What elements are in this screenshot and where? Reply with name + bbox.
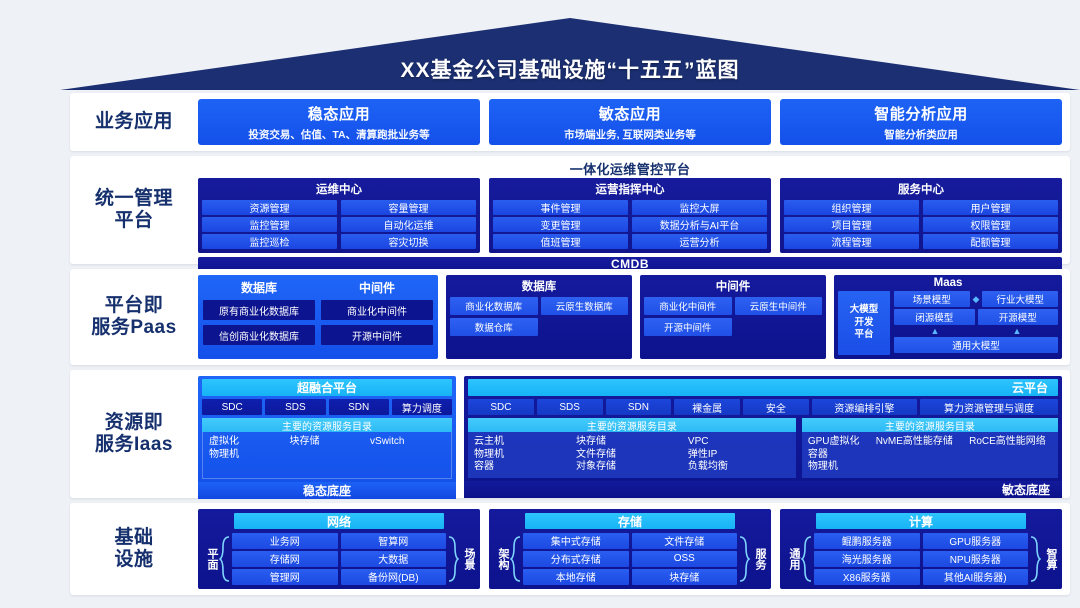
infra-item-grid: 集中式存储 文件存储 分布式存储 OSS 本地存储 块存储	[523, 533, 737, 585]
catalog-item: 弹性IP	[688, 449, 790, 462]
left-brace-icon	[801, 535, 812, 583]
infra-body: 通用 鲲鹏服务器 GPU服务器 海光服务器 NPU服务器 X86服务器 其他AI…	[786, 532, 1056, 585]
app-card-title: 稳态应用	[308, 103, 370, 124]
catalog-item: 负载均衡	[688, 461, 790, 474]
paas-column-title: 数据库	[203, 279, 315, 296]
center-item[interactable]: 用户管理	[923, 200, 1058, 215]
unified-platform-header: 一体化运维管控平台	[198, 162, 1062, 178]
infra-title: 存储	[525, 513, 736, 529]
maas-row-source: 闭源模型 开源模型	[894, 309, 1058, 325]
cloud-catalog-header: 主要的资源服务目录	[468, 418, 796, 432]
paas-item[interactable]: 开源中间件	[321, 325, 433, 345]
center-item[interactable]: 组织管理	[784, 200, 919, 215]
catalog-item	[370, 461, 445, 474]
arrow-right-icon: ◆	[973, 295, 980, 304]
catalog-item	[969, 449, 1052, 462]
cloud-base-label: 敏态底座	[464, 481, 1062, 498]
infra-left-label: 平面	[204, 548, 217, 570]
infra-item[interactable]: 块存储	[632, 569, 738, 585]
paas-item[interactable]: 商业化中间件	[644, 297, 732, 315]
center-operations-command: 运营指挥中心 事件管理 监控大屏 变更管理 数据分析与AI平台 值班管理 运营分…	[489, 178, 771, 253]
catalog-item: 物理机	[474, 449, 566, 462]
app-card-subtitle: 智能分析类应用	[884, 127, 958, 142]
catalog-item	[876, 461, 959, 474]
infra-title-wrap: 存储	[495, 513, 765, 529]
right-brace-icon	[1030, 535, 1041, 583]
paas-item[interactable]: 商业化中间件	[321, 300, 433, 320]
hci-catalog-header: 主要的资源服务目录	[202, 418, 452, 432]
hci-tab-list: SDC SDS SDN 算力调度	[202, 399, 452, 415]
paas-item[interactable]: 原有商业化数据库	[203, 300, 315, 320]
catalog-item: 容器	[808, 449, 866, 462]
cloud-platform-title: 云平台	[468, 379, 1058, 396]
hci-catalog-body: 虚拟化 物理机 块存储 vSwitch	[202, 432, 452, 479]
infra-item[interactable]: 备份网(DB)	[341, 569, 447, 585]
paas-panel-title: 数据库	[450, 278, 628, 294]
catalog-item: 对象存储	[576, 461, 678, 474]
paas-stable-database-column: 数据库 原有商业化数据库 信创商业化数据库	[203, 279, 315, 355]
paas-item[interactable]: 开源中间件	[644, 318, 732, 336]
catalog-item	[290, 449, 361, 462]
infra-right-label: 服务	[752, 548, 765, 570]
infra-title: 网络	[234, 513, 445, 529]
iaas-block: 超融合平台 SDC SDS SDN 算力调度 主要的资源服务目录 虚拟化 物理机	[198, 376, 1062, 492]
hci-base-label: 稳态底座	[198, 482, 456, 499]
center-item-grid: 事件管理 监控大屏 变更管理 数据分析与AI平台 值班管理 运营分析	[493, 200, 767, 249]
infra-item[interactable]: 文件存储	[632, 533, 738, 549]
paas-stable-middleware-column: 中间件 商业化中间件 开源中间件	[321, 279, 433, 355]
center-item[interactable]: 事件管理	[493, 200, 628, 215]
row-body-iaas: 超融合平台 SDC SDS SDN 算力调度 主要的资源服务目录 虚拟化 物理机	[198, 370, 1070, 498]
paas-item[interactable]: 云原生中间件	[735, 297, 823, 315]
row-body-infrastructure: 网络 平面 业务网 智算网 存储网 大数据 管理网 备份	[198, 503, 1070, 595]
catalog-item: 块存储	[290, 436, 361, 449]
row-iaas: 资源即 服务Iaas 超融合平台 SDC SDS SDN 算力调度 主要的资源服…	[70, 370, 1070, 498]
paas-stable-card: 数据库 原有商业化数据库 信创商业化数据库 中间件 商业化中间件 开源中间件	[198, 275, 438, 359]
infra-item[interactable]: 业务网	[232, 533, 338, 549]
center-item[interactable]: 容灾切换	[341, 234, 476, 249]
catalog-item	[209, 461, 280, 474]
center-item[interactable]: 权限管理	[923, 217, 1058, 232]
paas-panel-grid: 商业化中间件 云原生中间件 开源中间件	[644, 297, 822, 336]
center-item[interactable]: 流程管理	[784, 234, 919, 249]
infrastructure-card-list: 网络 平面 业务网 智算网 存储网 大数据 管理网 备份	[198, 509, 1062, 589]
infra-item[interactable]: 其他AI服务器)	[923, 569, 1029, 585]
center-ops: 运维中心 资源管理 容量管理 监控管理 自动化运维 监控巡检 容灾切换	[198, 178, 480, 253]
paas-agile-middleware-panel: 中间件 商业化中间件 云原生中间件 开源中间件	[640, 275, 826, 359]
unified-platform-center-list: 运维中心 资源管理 容量管理 监控管理 自动化运维 监控巡检 容灾切换 运营指挥…	[198, 178, 1062, 253]
infra-right-label: 智算	[1043, 548, 1056, 570]
center-service: 服务中心 组织管理 用户管理 项目管理 权限管理 流程管理 配额管理	[780, 178, 1062, 253]
infra-title: 计算	[816, 513, 1027, 529]
infra-item[interactable]: 管理网	[232, 569, 338, 585]
row-label-iaas: 资源即 服务Iaas	[70, 370, 198, 498]
catalog-item: vSwitch	[370, 436, 445, 449]
center-item[interactable]: 变更管理	[493, 217, 628, 232]
catalog-item: 云主机	[474, 436, 566, 449]
left-brace-icon	[219, 535, 230, 583]
infra-item[interactable]: X86服务器	[814, 569, 920, 585]
catalog-item	[969, 461, 1052, 474]
infra-item[interactable]: 海光服务器	[814, 551, 920, 567]
hci-tab-sdn[interactable]: SDN	[329, 399, 389, 415]
row-body-unified-platform: 一体化运维管控平台 运维中心 资源管理 容量管理 监控管理 自动化运维 监控巡检…	[198, 156, 1070, 264]
business-app-card-list: 稳态应用 投资交易、估值、TA、清算跑批业务等 敏态应用 市场端业务, 互联网类…	[198, 99, 1062, 145]
cloud-tab-security[interactable]: 安全	[743, 399, 809, 415]
cloud-catalog-header: 主要的资源服务目录	[802, 418, 1058, 432]
right-brace-icon	[739, 535, 750, 583]
cloud-tab-orchestration-engine[interactable]: 资源编排引擎	[812, 399, 917, 415]
catalog-item	[370, 449, 445, 462]
hci-title: 超融合平台	[202, 379, 452, 396]
hci-tab-compute-scheduling[interactable]: 算力调度	[392, 399, 452, 415]
infra-item[interactable]: OSS	[632, 551, 738, 567]
infra-item[interactable]: NPU服务器	[923, 551, 1029, 567]
infra-item[interactable]: 大数据	[341, 551, 447, 567]
arrow-up-icon: ▲	[976, 327, 1058, 335]
app-card-title: 敏态应用	[599, 103, 661, 124]
maas-title: Maas	[838, 277, 1058, 289]
roof-banner: XX基金公司基础设施“十五五”蓝图	[60, 18, 1080, 90]
catalog-item: 容器	[474, 461, 566, 474]
catalog-item: 虚拟化	[209, 436, 280, 449]
paas-panel-grid: 商业化数据库 云原生数据库 数据仓库	[450, 297, 628, 336]
cloud-catalog-right-body: GPU虚拟化 容器 物理机 NvME高性能存储 RoCE高性能网络	[802, 432, 1058, 478]
infra-item[interactable]: GPU服务器	[923, 533, 1029, 549]
arrow-up-icon: ▲	[894, 327, 976, 335]
center-item[interactable]: 监控管理	[202, 217, 337, 232]
row-unified-platform: 统一管理 平台 一体化运维管控平台 运维中心 资源管理 容量管理 监控管理 自动…	[70, 156, 1070, 264]
catalog-item: NvME高性能存储	[876, 436, 959, 449]
paas-agile-card: 数据库 商业化数据库 云原生数据库 数据仓库 中间件 商业化中间件 云原生中间件…	[446, 275, 826, 359]
cloud-platform-card: 云平台 SDC SDS SDN 裸金属 安全 资源编排引擎 算力资源管理与调度 …	[464, 376, 1062, 492]
center-item[interactable]: 容量管理	[341, 200, 476, 215]
cloud-tab-bare-metal[interactable]: 裸金属	[674, 399, 740, 415]
row-paas: 平台即 服务Paas 数据库 原有商业化数据库 信创商业化数据库 中间件 商业化…	[70, 269, 1070, 365]
paas-item[interactable]: 信创商业化数据库	[203, 325, 315, 345]
maas-dev-platform-label[interactable]: 大模型 开发 平台	[838, 291, 890, 355]
catalog-item: VPC	[688, 436, 790, 449]
cloud-tab-compute-resource-mgmt[interactable]: 算力资源管理与调度	[920, 399, 1058, 415]
hci-card: 超融合平台 SDC SDS SDN 算力调度 主要的资源服务目录 虚拟化 物理机	[198, 376, 456, 492]
infra-item[interactable]: 集中式存储	[523, 533, 629, 549]
catalog-item	[876, 449, 959, 462]
row-infrastructure: 基础 设施 网络 平面 业务网 智算网 存储网	[70, 503, 1070, 595]
cloud-tab-sdn[interactable]: SDN	[606, 399, 672, 415]
maas-body: 大模型 开发 平台 场景模型 ◆ 行业大模型 闭源模型 开源模型	[838, 291, 1058, 355]
cloud-catalog-left-body: 云主机 物理机 容器 块存储 文件存储 对象存储 VPC 弹性IP 负载均衡	[468, 432, 796, 478]
center-item[interactable]: 监控巡检	[202, 234, 337, 249]
cloud-tab-sdc[interactable]: SDC	[468, 399, 534, 415]
center-item[interactable]: 自动化运维	[341, 217, 476, 232]
catalog-item: 物理机	[209, 449, 280, 462]
hci-catalog: 主要的资源服务目录 虚拟化 物理机 块存储 vSwitch	[202, 418, 452, 479]
hci-tab-sdc[interactable]: SDC	[202, 399, 262, 415]
maas-item-general-large-model[interactable]: 通用大模型	[894, 337, 1058, 353]
infra-title-wrap: 计算	[786, 513, 1056, 529]
hci-tab-sds[interactable]: SDS	[265, 399, 325, 415]
infra-card-network: 网络 平面 业务网 智算网 存储网 大数据 管理网 备份	[198, 509, 480, 589]
infra-body: 平面 业务网 智算网 存储网 大数据 管理网 备份网(DB)	[204, 532, 474, 585]
catalog-item: 物理机	[808, 461, 866, 474]
infra-item-grid: 业务网 智算网 存储网 大数据 管理网 备份网(DB)	[232, 533, 446, 585]
center-item[interactable]: 监控大屏	[632, 200, 767, 215]
row-body-paas: 数据库 原有商业化数据库 信创商业化数据库 中间件 商业化中间件 开源中间件 数…	[198, 269, 1070, 365]
infra-title-wrap: 网络	[204, 513, 474, 529]
infra-left-label: 通用	[786, 548, 799, 570]
infra-card-storage: 存储 架构 集中式存储 文件存储 分布式存储 OSS 本地存储	[489, 509, 771, 589]
blueprint-page: XX基金公司基础设施“十五五”蓝图 业务应用 稳态应用 投资交易、估值、TA、清…	[0, 0, 1080, 608]
row-label-infrastructure: 基础 设施	[70, 503, 198, 595]
row-label-business-apps: 业务应用	[70, 93, 198, 151]
infra-item[interactable]: 智算网	[341, 533, 447, 549]
paas-panel-title: 中间件	[644, 278, 822, 294]
cloud-catalog-right: 主要的资源服务目录 GPU虚拟化 容器 物理机 NvME高性能存储 RoCE高性…	[802, 418, 1058, 478]
catalog-item: 文件存储	[576, 449, 678, 462]
center-title: 服务中心	[784, 181, 1058, 197]
center-item[interactable]: 项目管理	[784, 217, 919, 232]
paas-item[interactable]: 云原生数据库	[541, 297, 629, 315]
catalog-item: 块存储	[576, 436, 678, 449]
center-item[interactable]: 运营分析	[632, 234, 767, 249]
paas-agile-database-panel: 数据库 商业化数据库 云原生数据库 数据仓库	[446, 275, 632, 359]
maas-model-area: 场景模型 ◆ 行业大模型 闭源模型 开源模型 ▲ ▲	[894, 291, 1058, 355]
maas-card: Maas 大模型 开发 平台 场景模型 ◆ 行业大模型 闭源模型 开源模型	[834, 275, 1062, 359]
right-brace-icon	[448, 535, 459, 583]
hci-catalog-wrap: 主要的资源服务目录 虚拟化 物理机 块存储 vSwitch	[202, 418, 452, 479]
paas-block: 数据库 原有商业化数据库 信创商业化数据库 中间件 商业化中间件 开源中间件 数…	[198, 275, 1062, 359]
center-item-grid: 组织管理 用户管理 项目管理 权限管理 流程管理 配额管理	[784, 200, 1058, 249]
row-label-unified-platform: 统一管理 平台	[70, 156, 198, 264]
cloud-catalog-wrap: 主要的资源服务目录 云主机 物理机 容器 块存储 文件存储 对象存储 VPC 弹…	[468, 418, 1058, 478]
paas-column-title: 中间件	[321, 279, 433, 296]
infra-card-compute: 计算 通用 鲲鹏服务器 GPU服务器 海光服务器 NPU服务器 X86服务器	[780, 509, 1062, 589]
catalog-item	[290, 461, 361, 474]
app-card-subtitle: 市场端业务, 互联网类业务等	[564, 127, 696, 142]
maas-arrow-row: ▲ ▲	[894, 327, 1058, 335]
app-card-title: 智能分析应用	[874, 103, 968, 124]
page-title: XX基金公司基础设施“十五五”蓝图	[60, 54, 1080, 84]
infra-item-grid: 鲲鹏服务器 GPU服务器 海光服务器 NPU服务器 X86服务器 其他AI服务器…	[814, 533, 1028, 585]
infra-right-label: 场景	[461, 548, 474, 570]
app-card-subtitle: 投资交易、估值、TA、清算跑批业务等	[248, 127, 429, 142]
maas-item-open-source-model[interactable]: 开源模型	[978, 309, 1059, 325]
paas-item[interactable]: 商业化数据库	[450, 297, 538, 315]
infra-item[interactable]: 本地存储	[523, 569, 629, 585]
row-label-paas: 平台即 服务Paas	[70, 269, 198, 365]
center-item[interactable]: 资源管理	[202, 200, 337, 215]
unified-platform-block: 一体化运维管控平台 运维中心 资源管理 容量管理 监控管理 自动化运维 监控巡检…	[198, 162, 1062, 258]
center-item[interactable]: 数据分析与AI平台	[632, 217, 767, 232]
catalog-item: GPU虚拟化	[808, 436, 866, 449]
center-title: 运营指挥中心	[493, 181, 767, 197]
maas-item-scene-model[interactable]: 场景模型	[894, 291, 970, 307]
row-body-business-apps: 稳态应用 投资交易、估值、TA、清算跑批业务等 敏态应用 市场端业务, 互联网类…	[198, 93, 1070, 151]
infra-body: 架构 集中式存储 文件存储 分布式存储 OSS 本地存储 块存储	[495, 532, 765, 585]
catalog-item: RoCE高性能网络	[969, 436, 1052, 449]
app-card-intelligent-analysis[interactable]: 智能分析应用 智能分析类应用	[780, 99, 1062, 145]
infra-item[interactable]: 分布式存储	[523, 551, 629, 567]
left-brace-icon	[510, 535, 521, 583]
maas-item-industry-model[interactable]: 行业大模型	[982, 291, 1058, 307]
cloud-catalog-left: 主要的资源服务目录 云主机 物理机 容器 块存储 文件存储 对象存储 VPC 弹…	[468, 418, 796, 478]
infra-item[interactable]: 存储网	[232, 551, 338, 567]
maas-row-scene: 场景模型 ◆ 行业大模型	[894, 291, 1058, 307]
center-item[interactable]: 值班管理	[493, 234, 628, 249]
infra-left-label: 架构	[495, 548, 508, 570]
cloud-tab-list: SDC SDS SDN 裸金属 安全 资源编排引擎 算力资源管理与调度	[468, 399, 1058, 415]
cloud-tab-sds[interactable]: SDS	[537, 399, 603, 415]
maas-item-closed-source-model[interactable]: 闭源模型	[894, 309, 975, 325]
paas-item[interactable]: 数据仓库	[450, 318, 538, 336]
row-business-apps: 业务应用 稳态应用 投资交易、估值、TA、清算跑批业务等 敏态应用 市场端业务,…	[70, 93, 1070, 151]
center-item[interactable]: 配额管理	[923, 234, 1058, 249]
center-title: 运维中心	[202, 181, 476, 197]
center-item-grid: 资源管理 容量管理 监控管理 自动化运维 监控巡检 容灾切换	[202, 200, 476, 249]
app-card-agile[interactable]: 敏态应用 市场端业务, 互联网类业务等	[489, 99, 771, 145]
app-card-stable[interactable]: 稳态应用 投资交易、估值、TA、清算跑批业务等	[198, 99, 480, 145]
infra-item[interactable]: 鲲鹏服务器	[814, 533, 920, 549]
